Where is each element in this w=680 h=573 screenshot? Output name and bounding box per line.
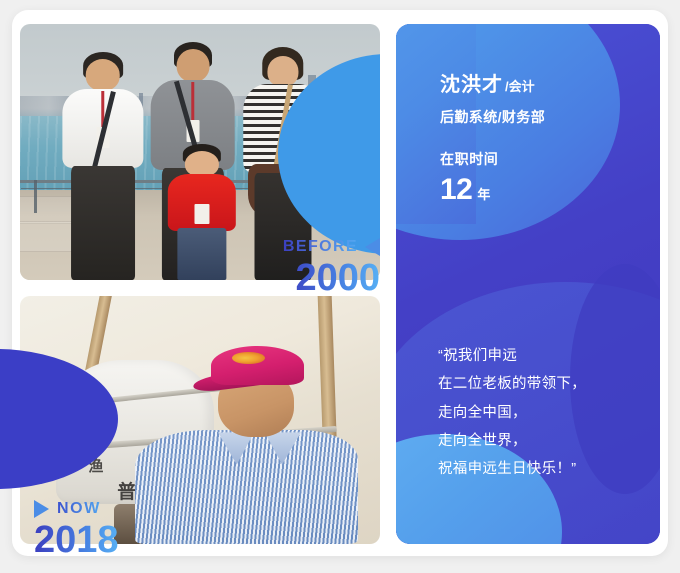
before-year: 2000	[283, 259, 380, 297]
now-label: NOW	[57, 501, 101, 517]
railing-post	[34, 180, 37, 213]
pink-cap	[211, 346, 305, 386]
employee-department: 后勤系统/财务部	[440, 107, 660, 127]
triangle-right-icon	[34, 500, 49, 518]
cap-logo-icon	[232, 352, 264, 364]
tenure-value: 12	[440, 173, 472, 207]
before-label-group: BEFORE 2000	[283, 238, 380, 297]
tenure-row: 12 年	[440, 173, 660, 207]
page-card: BEFORE 2000 渔 普	[12, 10, 668, 556]
tenure-unit: 年	[477, 184, 490, 203]
head	[176, 49, 209, 82]
id-badge	[194, 204, 209, 224]
now-year: 2018	[34, 521, 119, 559]
person-adult-left	[60, 52, 146, 280]
before-row: BEFORE	[283, 238, 380, 256]
triangle-left-icon	[365, 238, 380, 256]
now-label-group: NOW 2018	[34, 500, 119, 559]
employee-role: /会计	[505, 76, 535, 95]
head	[185, 151, 219, 177]
head	[86, 59, 121, 91]
before-label: BEFORE	[283, 239, 358, 255]
photo-column: BEFORE 2000 渔 普	[20, 24, 388, 544]
person-child	[168, 144, 236, 280]
profile-card: 沈洪才 /会计 后勤系统/财务部 在职时间 12 年 “祝我们申远 在二位老板的…	[396, 24, 660, 544]
head	[267, 56, 298, 86]
man-body	[135, 430, 358, 544]
now-row: NOW	[34, 500, 119, 518]
boat-marking-2: 普	[117, 477, 136, 504]
card-content: 沈洪才 /会计 后勤系统/财务部 在职时间 12 年	[396, 24, 660, 544]
lanyard	[191, 82, 194, 122]
legs	[71, 166, 135, 280]
name-line: 沈洪才 /会计	[440, 68, 660, 97]
employee-name: 沈洪才	[440, 68, 503, 97]
tenure-label: 在职时间	[440, 149, 660, 169]
legs	[177, 228, 226, 280]
